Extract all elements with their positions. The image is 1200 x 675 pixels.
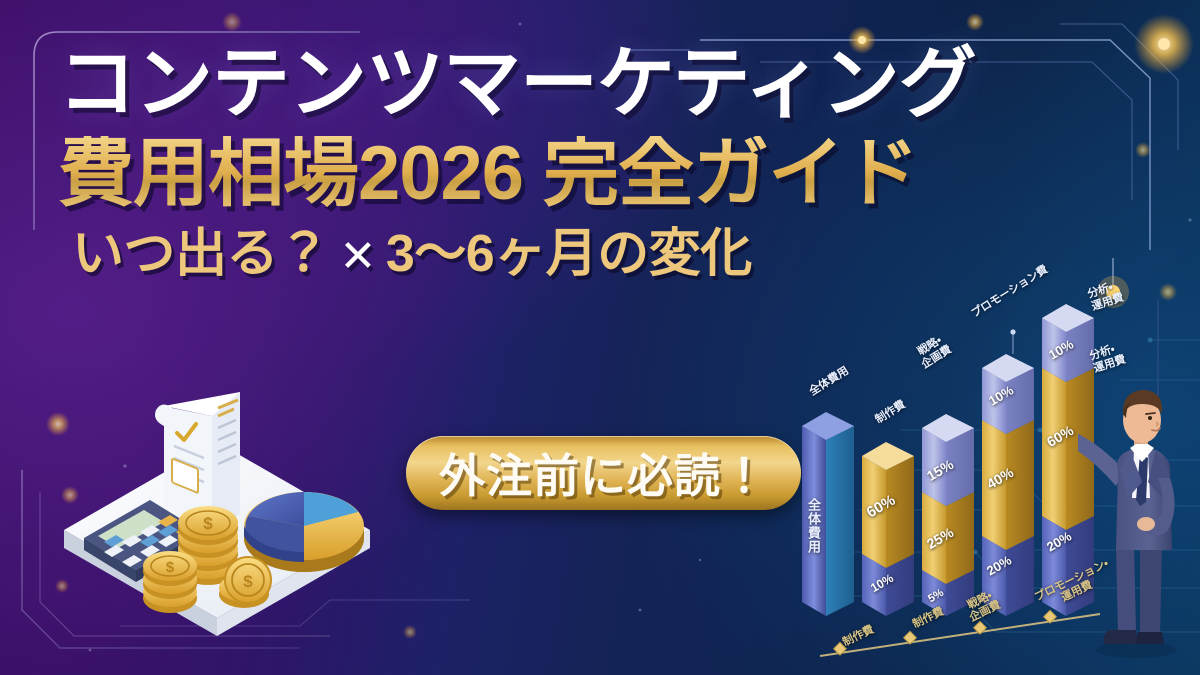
badge-label: 外注前に必読！ (439, 440, 768, 506)
svg-text:$: $ (243, 572, 253, 591)
subtitle-part-a: いつ出る？ (72, 225, 330, 283)
cross-icon: ✕ (330, 232, 386, 281)
pie-chart (244, 492, 364, 572)
bar-inner-label-1: 全体費用 (805, 498, 820, 554)
svg-text:$: $ (166, 559, 175, 576)
headline-line-2: 費用相場2026 完全ガイド (58, 136, 1118, 212)
must-read-badge[interactable]: 外注前に必読！ (406, 436, 801, 510)
businessman-presenter (1078, 378, 1200, 660)
bar-2-production-cost (862, 442, 914, 616)
bar-3-strategy-cost (922, 414, 974, 616)
hero-banner: コンテンツマーケティング 費用相場2026 完全ガイド いつ出る？✕3〜6ヶ月の… (0, 0, 1200, 675)
businessman-svg (1078, 378, 1200, 660)
subtitle-part-b: 3〜6ヶ月の変化 (386, 225, 752, 283)
finance-illustration: $ $ $ (52, 386, 382, 656)
svg-text:$: $ (203, 514, 213, 533)
headline-line-1: コンテンツマーケティング (58, 44, 1118, 122)
finance-illustration-svg: $ $ $ (52, 386, 382, 656)
headline-block: コンテンツマーケティング 費用相場2026 完全ガイド いつ出る？✕3〜6ヶ月の… (58, 44, 1118, 280)
